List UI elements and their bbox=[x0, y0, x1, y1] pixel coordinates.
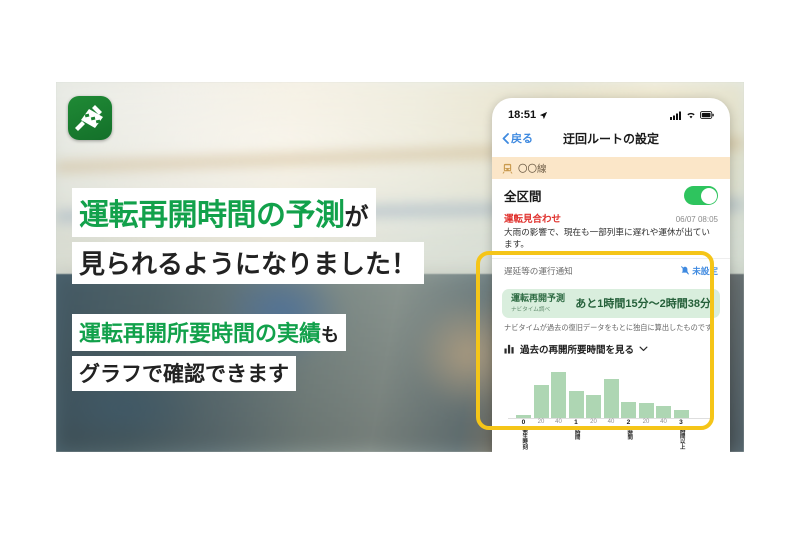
chart-x-tick-number: 20 bbox=[534, 419, 549, 426]
chart-x-tick-label: 時間 bbox=[573, 429, 578, 440]
chart-x-tick bbox=[691, 419, 706, 452]
chart-x-tick: 20 bbox=[534, 419, 549, 452]
chart-x-tick: 40 bbox=[656, 419, 671, 452]
chevron-left-icon bbox=[502, 133, 509, 144]
battery-icon bbox=[700, 111, 714, 119]
chart-bar bbox=[656, 406, 671, 417]
chart-x-tick-label: 時間 bbox=[626, 429, 631, 440]
chart-x-tick: 1時間 bbox=[569, 419, 584, 452]
status-bar-left: 18:51 bbox=[508, 109, 548, 121]
chart-bar bbox=[674, 410, 689, 417]
chart-x-tick: 40 bbox=[604, 419, 619, 452]
service-alert: 運転見合わせ 06/07 08:05 大雨の影響で、現在も一部列車に遅れや運休が… bbox=[492, 211, 730, 253]
headline-line3-green: 運転再開所要時間の実績 bbox=[79, 321, 321, 346]
all-zone-toggle[interactable] bbox=[684, 186, 718, 205]
prediction-note: ナビタイムが過去の復旧データをもとに独自に算出したものです bbox=[502, 318, 720, 333]
chart-x-tick-number: 20 bbox=[639, 419, 654, 426]
train-icon bbox=[502, 163, 513, 174]
service-alert-date: 06/07 08:05 bbox=[676, 215, 718, 224]
status-bar-right bbox=[670, 111, 714, 120]
headline-line-3: 運転再開所要時間の実績も bbox=[72, 314, 346, 351]
headline-line1-black: が bbox=[345, 204, 369, 231]
chart-bar bbox=[551, 372, 566, 418]
prediction-card-subtitle: ナビタイム調べ bbox=[511, 305, 565, 313]
phone-mockup: 18:51 bbox=[492, 98, 730, 452]
line-banner-label: 〇〇線 bbox=[518, 161, 547, 175]
service-alert-body: 大雨の影響で、現在も一部列車に遅れや運休が出ています。 bbox=[504, 227, 718, 251]
prediction-section: 運転再開予測 ナビタイム調べ あと1時間15分～2時間38分 ナビタイムが過去の… bbox=[492, 283, 730, 452]
chart-bar bbox=[516, 415, 531, 418]
ligare-watermark: LIGARE bbox=[655, 491, 786, 525]
prediction-card-value: あと1時間15分～2時間38分 bbox=[575, 295, 711, 311]
wifi-icon bbox=[686, 111, 696, 120]
all-zone-label: 全区間 bbox=[504, 186, 542, 205]
nav-bar: 戻る 迂回ルートの設定 bbox=[492, 123, 730, 157]
chart-bar bbox=[534, 385, 549, 417]
chart-x-tick: 20 bbox=[639, 419, 654, 452]
bar-chart-icon bbox=[504, 343, 515, 354]
chart-x-tick-number: 2 bbox=[621, 419, 636, 427]
back-button-label: 戻る bbox=[511, 130, 533, 146]
chart-x-tick: 0発生時刻 bbox=[516, 419, 531, 452]
chart-x-tick: 3時間以上 bbox=[674, 419, 689, 452]
chart-bar bbox=[621, 402, 636, 418]
line-banner[interactable]: 〇〇線 bbox=[492, 157, 730, 179]
cellular-signal-icon bbox=[670, 111, 682, 120]
headline-line3-black: も bbox=[321, 325, 339, 345]
chart-x-tick-number: 0 bbox=[516, 419, 531, 427]
chart-x-tick-label: 発生時刻 bbox=[521, 428, 526, 450]
service-alert-header: 運転見合わせ 06/07 08:05 bbox=[504, 211, 718, 225]
train-app-icon[interactable] bbox=[68, 96, 112, 140]
chart-x-tick: 40 bbox=[551, 419, 566, 452]
promo-banner: 運転再開時間の予測が 見られるようになりました！ 運転再開所要時間の実績も グラ… bbox=[56, 82, 744, 452]
headline-secondary: 運転再開所要時間の実績も グラフで確認できます bbox=[72, 314, 346, 396]
status-time: 18:51 bbox=[508, 109, 536, 121]
chart-bar bbox=[569, 391, 584, 418]
prediction-card-left: 運転再開予測 ナビタイム調べ bbox=[511, 294, 565, 313]
chart-x-tick: 2時間 bbox=[621, 419, 636, 452]
service-alert-title: 運転見合わせ bbox=[504, 211, 561, 225]
headline-primary: 運転再開時間の予測が 見られるようになりました！ bbox=[72, 188, 424, 289]
notification-setting-value-wrap[interactable]: 未設定 bbox=[681, 265, 718, 277]
notification-setting-label: 遅延等の運行通知 bbox=[504, 265, 573, 277]
chevron-down-icon[interactable] bbox=[639, 346, 648, 352]
history-bar-chart: 0発生時刻20401時間20402時間20403時間以上 過去の運転再開所要時間… bbox=[508, 366, 714, 452]
prediction-card: 運転再開予測 ナビタイム調べ あと1時間15分～2時間38分 bbox=[502, 289, 720, 318]
headline-line-2: 見られるようになりました！ bbox=[72, 242, 424, 284]
chart-x-tick-number: 40 bbox=[551, 419, 566, 426]
chart-x-tick-number: 40 bbox=[656, 419, 671, 426]
headline-line-1: 運転再開時間の予測が bbox=[72, 188, 376, 237]
chart-bar bbox=[604, 379, 619, 417]
chart-x-tick: 20 bbox=[586, 419, 601, 452]
see-history-row[interactable]: 過去の再開所要時間を見る bbox=[502, 333, 720, 356]
chart-bar bbox=[639, 403, 654, 418]
chart-x-axis: 0発生時刻20401時間20402時間20403時間以上 bbox=[508, 419, 714, 452]
see-history-label: 過去の再開所要時間を見る bbox=[520, 342, 634, 356]
all-zone-row[interactable]: 全区間 bbox=[492, 179, 730, 211]
chart-x-tick-label: 時間以上 bbox=[678, 428, 683, 450]
chart-bar bbox=[586, 395, 601, 418]
chart-x-tick-number: 20 bbox=[586, 419, 601, 426]
status-bar: 18:51 bbox=[492, 98, 730, 123]
headline-line1-green: 運転再開時間の予測 bbox=[79, 199, 345, 232]
chart-plot-area bbox=[508, 366, 714, 419]
prediction-card-title: 運転再開予測 bbox=[511, 294, 565, 304]
location-arrow-icon bbox=[539, 111, 548, 120]
headline-line-4: グラフで確認できます bbox=[72, 356, 296, 391]
headline-line4-text: グラフで確認できます bbox=[79, 363, 289, 386]
chart-x-tick-number: 1 bbox=[569, 419, 584, 427]
notification-setting-row[interactable]: 遅延等の運行通知 未設定 bbox=[492, 258, 730, 283]
notification-setting-value: 未設定 bbox=[692, 265, 718, 277]
chart-x-tick-number: 3 bbox=[674, 419, 689, 427]
headline-line2-text: 見られるようになりました！ bbox=[79, 249, 417, 279]
screenshot-root: 運転再開時間の予測が 見られるようになりました！ 運転再開所要時間の実績も グラ… bbox=[0, 0, 800, 533]
bell-off-icon bbox=[681, 266, 689, 275]
back-button[interactable]: 戻る bbox=[502, 130, 533, 146]
chart-x-tick-number: 40 bbox=[604, 419, 619, 426]
